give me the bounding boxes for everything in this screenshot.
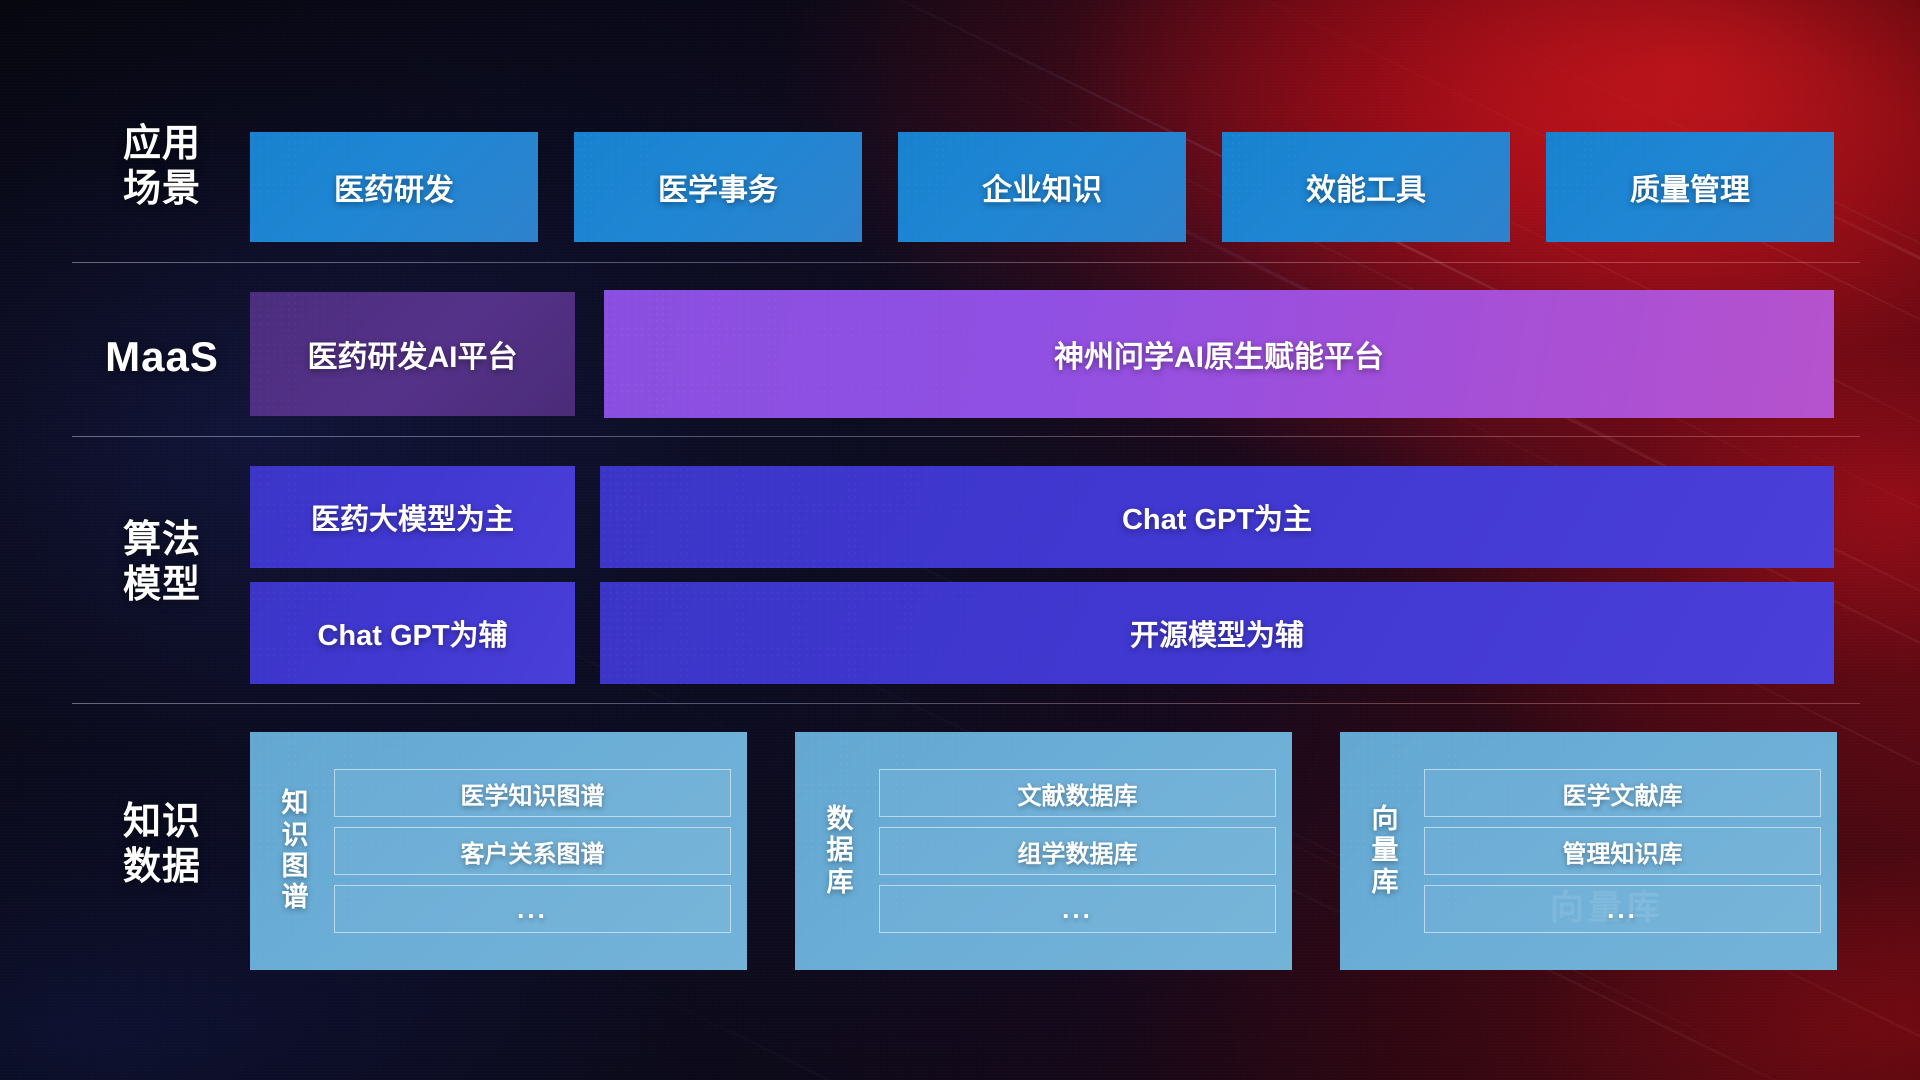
maas-card-label: 医药研发AI平台 (308, 332, 518, 376)
maas-card-shenzhou-platform[interactable]: 神州问学AI原生赋能平台 (604, 290, 1834, 418)
title-char: 图 (282, 851, 309, 882)
knowledge-group-title-vector-store: 向 量 库 (1354, 746, 1416, 956)
knowledge-item-more[interactable]: ... (334, 885, 731, 933)
knowledge-item-label: 医学知识图谱 (461, 776, 605, 811)
knowledge-item-label: ... (517, 894, 548, 925)
title-char: 库 (1372, 867, 1399, 898)
knowledge-group-knowledge-graph[interactable]: 知 识 图 谱 医学知识图谱 客户关系图谱 ... (250, 732, 747, 970)
title-char: 识 (282, 820, 309, 851)
knowledge-item-more[interactable]: ... (1424, 885, 1821, 933)
knowledge-item-label: ... (1607, 894, 1638, 925)
app-scenario-card-3[interactable]: 企业知识 (898, 132, 1186, 242)
app-scenario-label: 医药研发 (334, 165, 454, 209)
knowledge-item-label: ... (1062, 894, 1093, 925)
maas-card-pharma-platform[interactable]: 医药研发AI平台 (250, 292, 575, 416)
knowledge-group-items-knowledge-graph: 医学知识图谱 客户关系图谱 ... (326, 746, 731, 956)
knowledge-item-label: 客户关系图谱 (461, 834, 605, 869)
row-label-maas: MaaS (72, 332, 252, 382)
title-char: 量 (1372, 835, 1399, 866)
algo-card-label: Chat GPT为辅 (317, 612, 507, 654)
app-scenario-label: 企业知识 (982, 165, 1102, 209)
row-label-line: 应用 (72, 122, 252, 167)
app-scenario-card-2[interactable]: 医学事务 (574, 132, 862, 242)
row-label-line: 知识 (72, 800, 252, 845)
algo-card-opensource-secondary[interactable]: 开源模型为辅 (600, 582, 1834, 684)
title-char: 向 (1372, 804, 1399, 835)
app-scenario-card-5[interactable]: 质量管理 (1546, 132, 1834, 242)
divider-after-maas (72, 436, 1860, 437)
knowledge-group-database[interactable]: 数 据 库 文献数据库 组学数据库 ... (795, 732, 1292, 970)
knowledge-group-items-vector-store: 医学文献库 管理知识库 ... (1416, 746, 1821, 956)
knowledge-item-label: 管理知识库 (1563, 834, 1683, 869)
title-char: 库 (827, 867, 854, 898)
title-char: 知 (282, 788, 309, 819)
knowledge-item-label: 组学数据库 (1018, 834, 1138, 869)
title-char: 据 (827, 835, 854, 866)
row-label-line: 场景 (72, 167, 252, 212)
row-label-line: 数据 (72, 845, 252, 890)
knowledge-group-title-knowledge-graph: 知 识 图 谱 (264, 746, 326, 956)
app-scenario-card-4[interactable]: 效能工具 (1222, 132, 1510, 242)
knowledge-item[interactable]: 客户关系图谱 (334, 827, 731, 875)
row-label-algorithm-model: 算法 模型 (72, 518, 252, 608)
app-scenario-label: 医学事务 (658, 165, 778, 209)
title-char: 数 (827, 804, 854, 835)
app-scenario-label: 效能工具 (1306, 165, 1426, 209)
row-label-knowledge-data: 知识 数据 (72, 800, 252, 890)
algo-card-pharma-llm-primary[interactable]: 医药大模型为主 (250, 466, 575, 568)
algo-card-label: 医药大模型为主 (311, 496, 514, 538)
knowledge-item-more[interactable]: ... (879, 885, 1276, 933)
knowledge-item-label: 医学文献库 (1563, 776, 1683, 811)
algo-card-label: 开源模型为辅 (1130, 612, 1304, 654)
row-label-line: MaaS (72, 332, 252, 382)
knowledge-item[interactable]: 医学文献库 (1424, 769, 1821, 817)
divider-after-algorithm-model (72, 703, 1860, 704)
knowledge-group-title-database: 数 据 库 (809, 746, 871, 956)
algo-card-chatgpt-primary[interactable]: Chat GPT为主 (600, 466, 1834, 568)
knowledge-item[interactable]: 组学数据库 (879, 827, 1276, 875)
row-label-application-scenarios: 应用 场景 (72, 122, 252, 212)
algo-card-chatgpt-secondary[interactable]: Chat GPT为辅 (250, 582, 575, 684)
app-scenario-card-1[interactable]: 医药研发 (250, 132, 538, 242)
knowledge-item[interactable]: 医学知识图谱 (334, 769, 731, 817)
knowledge-group-items-database: 文献数据库 组学数据库 ... (871, 746, 1276, 956)
knowledge-item[interactable]: 管理知识库 (1424, 827, 1821, 875)
maas-card-label: 神州问学AI原生赋能平台 (1054, 332, 1384, 376)
architecture-diagram: 应用 场景 医药研发 医学事务 企业知识 效能工具 质量管理 MaaS 医药研发… (0, 0, 1920, 1080)
row-label-line: 算法 (72, 518, 252, 563)
app-scenario-label: 质量管理 (1630, 165, 1750, 209)
row-label-line: 模型 (72, 563, 252, 608)
divider-after-application-scenarios (72, 262, 1860, 263)
title-char: 谱 (282, 882, 309, 913)
knowledge-item[interactable]: 文献数据库 (879, 769, 1276, 817)
knowledge-group-vector-store[interactable]: 向量库 向 量 库 医学文献库 管理知识库 ... (1340, 732, 1837, 970)
knowledge-item-label: 文献数据库 (1018, 776, 1138, 811)
algo-card-label: Chat GPT为主 (1122, 496, 1312, 538)
